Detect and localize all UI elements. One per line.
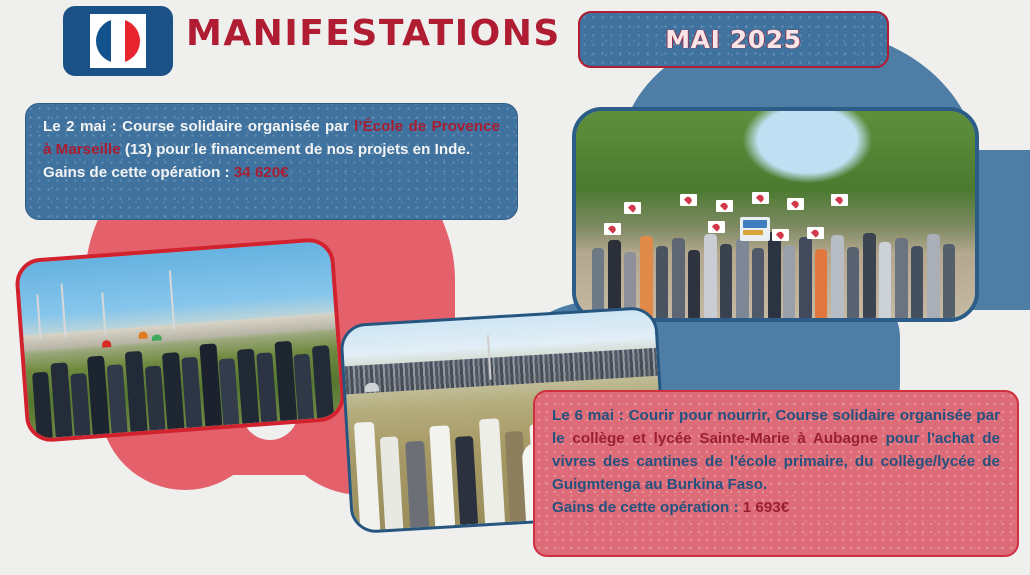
france-flag-icon xyxy=(63,6,173,76)
event-6-mai-gains: Gains de cette opération : 1 693€ xyxy=(552,496,1000,519)
heart-sign xyxy=(831,194,848,206)
banner-sign xyxy=(740,217,770,241)
heart-sign xyxy=(708,221,725,233)
event-6-mai-gains-label: Gains de cette opération : xyxy=(552,499,743,516)
heart-sign xyxy=(752,192,769,204)
photo-group-forest xyxy=(572,107,979,322)
event-2-mai-text-post: (13) pour le financement de nos projets … xyxy=(121,141,470,158)
event-2-mai-text-pre: Le 2 mai : Course solidaire organisée pa… xyxy=(43,118,354,135)
white-cap xyxy=(364,382,379,392)
heart-sign xyxy=(716,200,733,212)
red-cap xyxy=(102,340,111,348)
heart-sign xyxy=(807,227,824,239)
event-6-mai-organizer: collège et lycée Sainte-Marie à Aubagne xyxy=(572,430,878,447)
event-2-mai-gains-label: Gains de cette opération : xyxy=(43,164,234,181)
month-badge-label: MAI 2025 xyxy=(665,25,802,54)
event-card-2-mai: Le 2 mai : Course solidaire organisée pa… xyxy=(25,103,518,220)
orange-cap xyxy=(139,332,148,340)
page-title: MANIFESTATIONS xyxy=(186,16,561,52)
flag-circle xyxy=(96,19,140,63)
photo-run-dark-shirts xyxy=(14,237,347,444)
heart-sign xyxy=(787,198,804,210)
month-badge: MAI 2025 xyxy=(578,11,889,68)
event-6-mai-description: Le 6 mai : Courir pour nourrir, Course s… xyxy=(552,404,1000,496)
heart-sign xyxy=(772,229,789,241)
event-6-mai-gains-value: 1 693€ xyxy=(743,499,789,516)
event-2-mai-description: Le 2 mai : Course solidaire organisée pa… xyxy=(43,115,500,161)
poster-canvas: MANIFESTATIONS MAI 2025 xyxy=(0,0,1030,575)
event-card-6-mai: Le 6 mai : Courir pour nourrir, Course s… xyxy=(533,390,1019,557)
heart-sign xyxy=(604,223,621,235)
flag-plate xyxy=(90,14,146,68)
heart-sign xyxy=(680,194,697,206)
student-crowd xyxy=(576,111,975,318)
green-cap xyxy=(151,334,161,341)
event-2-mai-gains-value: 34 620€ xyxy=(234,164,289,181)
heart-sign xyxy=(624,202,641,214)
event-2-mai-gains: Gains de cette opération : 34 620€ xyxy=(43,161,500,184)
runners-crowd xyxy=(18,241,342,439)
